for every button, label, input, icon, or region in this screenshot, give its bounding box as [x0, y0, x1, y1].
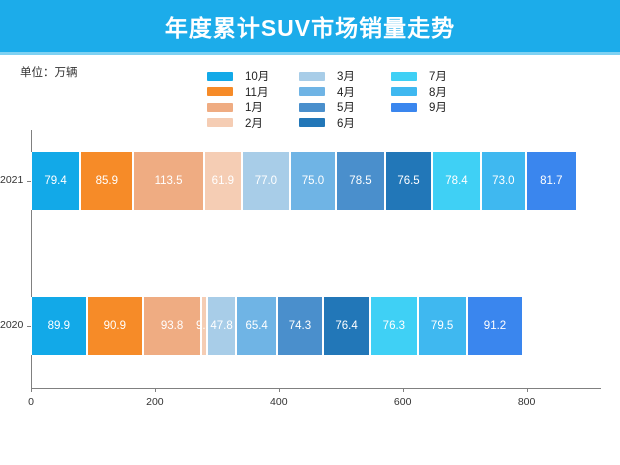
- chart-plot-area: 0200400600800202179.485.9113.561.977.075…: [0, 130, 620, 420]
- y-axis-tick-label: 2020: [0, 319, 26, 331]
- bar-segment[interactable]: 76.4: [323, 297, 370, 355]
- legend-swatch-icon: [391, 72, 417, 81]
- legend-column: 7月8月9月: [391, 69, 483, 131]
- legend-swatch-icon: [299, 118, 325, 127]
- legend-item[interactable]: 8月: [391, 85, 483, 99]
- bar-segment[interactable]: 81.7: [526, 152, 577, 210]
- bar-segment[interactable]: 47.8: [207, 297, 237, 355]
- legend-column: 10月11月1月2月: [207, 69, 299, 131]
- stacked-bar-2021: 79.485.9113.561.977.075.078.576.578.473.…: [31, 152, 577, 210]
- bar-segment-value-label: 93.8: [161, 320, 183, 332]
- bar-segment-value-label: 76.3: [383, 320, 405, 332]
- legend-item[interactable]: 2月: [207, 116, 299, 130]
- x-axis-tick-label: 200: [146, 396, 164, 408]
- bar-segment-value-label: 65.4: [245, 320, 267, 332]
- bar-segment[interactable]: 75.0: [290, 152, 336, 210]
- legend-item[interactable]: 7月: [391, 69, 483, 83]
- bar-segment[interactable]: 93.8: [143, 297, 201, 355]
- x-axis-tick-mark: [527, 388, 528, 392]
- page-title: 年度累计SUV市场销量走势: [165, 9, 455, 43]
- legend-item[interactable]: 10月: [207, 69, 299, 83]
- x-axis-tick-mark: [279, 388, 280, 392]
- x-axis-line: [31, 388, 601, 389]
- x-axis-tick-label: 400: [270, 396, 288, 408]
- legend-item[interactable]: 4月: [299, 85, 391, 99]
- legend-swatch-icon: [391, 87, 417, 96]
- bar-segment-value-label: 75.0: [302, 175, 324, 187]
- legend-swatch-icon: [391, 103, 417, 112]
- bar-segment-value-label: 61.9: [212, 175, 234, 187]
- bar-segment[interactable]: 79.5: [418, 297, 467, 355]
- legend-item[interactable]: 3月: [299, 69, 391, 83]
- bar-segment[interactable]: 79.4: [31, 152, 80, 210]
- legend-swatch-icon: [207, 72, 233, 81]
- bar-segment-value-label: 90.9: [104, 320, 126, 332]
- x-axis-tick-label: 600: [394, 396, 412, 408]
- bar-segment-value-label: 77.0: [255, 175, 277, 187]
- legend-item[interactable]: 9月: [391, 100, 483, 114]
- chart-legend: 10月11月1月2月3月4月5月6月7月8月9月: [207, 69, 483, 131]
- bar-segment-value-label: 78.5: [349, 175, 371, 187]
- x-axis-tick-mark: [155, 388, 156, 392]
- stacked-bar-2020: 89.990.993.89.247.865.474.376.476.379.59…: [31, 297, 523, 355]
- bar-segment[interactable]: 89.9: [31, 297, 87, 355]
- bar-segment[interactable]: 76.5: [385, 152, 432, 210]
- bar-segment[interactable]: 76.3: [370, 297, 417, 355]
- x-axis-tick-mark: [31, 388, 32, 392]
- bar-segment-value-label: 76.4: [335, 320, 357, 332]
- unit-note: 单位：万辆: [20, 64, 78, 80]
- legend-column: 3月4月5月6月: [299, 69, 391, 131]
- bar-segment-value-label: 85.9: [96, 175, 118, 187]
- x-axis-tick-mark: [403, 388, 404, 392]
- legend-item-label: 3月: [337, 68, 355, 84]
- legend-item-label: 9月: [429, 99, 447, 115]
- bar-segment[interactable]: 85.9: [80, 152, 133, 210]
- x-axis-tick-label: 800: [518, 396, 536, 408]
- bar-segment[interactable]: 61.9: [204, 152, 242, 210]
- legend-item-label: 8月: [429, 84, 447, 100]
- bar-segment[interactable]: 77.0: [242, 152, 290, 210]
- legend-swatch-icon: [299, 103, 325, 112]
- bar-segment-value-label: 91.2: [484, 320, 506, 332]
- bar-segment-value-label: 89.9: [48, 320, 70, 332]
- bar-segment[interactable]: 78.5: [336, 152, 385, 210]
- legend-swatch-icon: [207, 87, 233, 96]
- legend-swatch-icon: [207, 103, 233, 112]
- legend-swatch-icon: [299, 87, 325, 96]
- bar-segment[interactable]: 74.3: [277, 297, 323, 355]
- legend-item[interactable]: 5月: [299, 100, 391, 114]
- bar-segment-value-label: 74.3: [289, 320, 311, 332]
- bar-segment[interactable]: 65.4: [236, 297, 277, 355]
- bar-segment-value-label: 79.5: [431, 320, 453, 332]
- bar-segment-value-label: 79.4: [44, 175, 66, 187]
- bar-segment-value-label: 73.0: [492, 175, 514, 187]
- legend-item-label: 2月: [245, 115, 263, 131]
- legend-item[interactable]: 11月: [207, 85, 299, 99]
- bar-segment[interactable]: 78.4: [432, 152, 481, 210]
- bar-segment[interactable]: 90.9: [87, 297, 143, 355]
- bar-segment-value-label: 47.8: [210, 320, 232, 332]
- y-axis-tick-label: 2021: [0, 174, 26, 186]
- bar-segment[interactable]: 91.2: [467, 297, 523, 355]
- bar-segment-value-label: 113.5: [155, 175, 183, 187]
- legend-item-label: 7月: [429, 68, 447, 84]
- x-axis-tick-label: 0: [28, 396, 34, 408]
- bar-segment-value-label: 78.4: [445, 175, 467, 187]
- bar-segment-value-label: 81.7: [540, 175, 562, 187]
- legend-item-label: 4月: [337, 84, 355, 100]
- bar-segment[interactable]: 73.0: [481, 152, 526, 210]
- legend-item-label: 6月: [337, 115, 355, 131]
- legend-item[interactable]: 1月: [207, 100, 299, 114]
- banner-underline: [0, 52, 620, 55]
- bar-segment-value-label: 76.5: [397, 175, 419, 187]
- legend-item-label: 11月: [245, 84, 268, 100]
- legend-item-label: 5月: [337, 99, 355, 115]
- title-banner: 年度累计SUV市场销量走势: [0, 0, 620, 52]
- legend-item-label: 10月: [245, 68, 269, 84]
- legend-item[interactable]: 6月: [299, 116, 391, 130]
- bar-segment[interactable]: 113.5: [133, 152, 203, 210]
- legend-item-label: 1月: [245, 99, 263, 115]
- legend-swatch-icon: [207, 118, 233, 127]
- legend-swatch-icon: [299, 72, 325, 81]
